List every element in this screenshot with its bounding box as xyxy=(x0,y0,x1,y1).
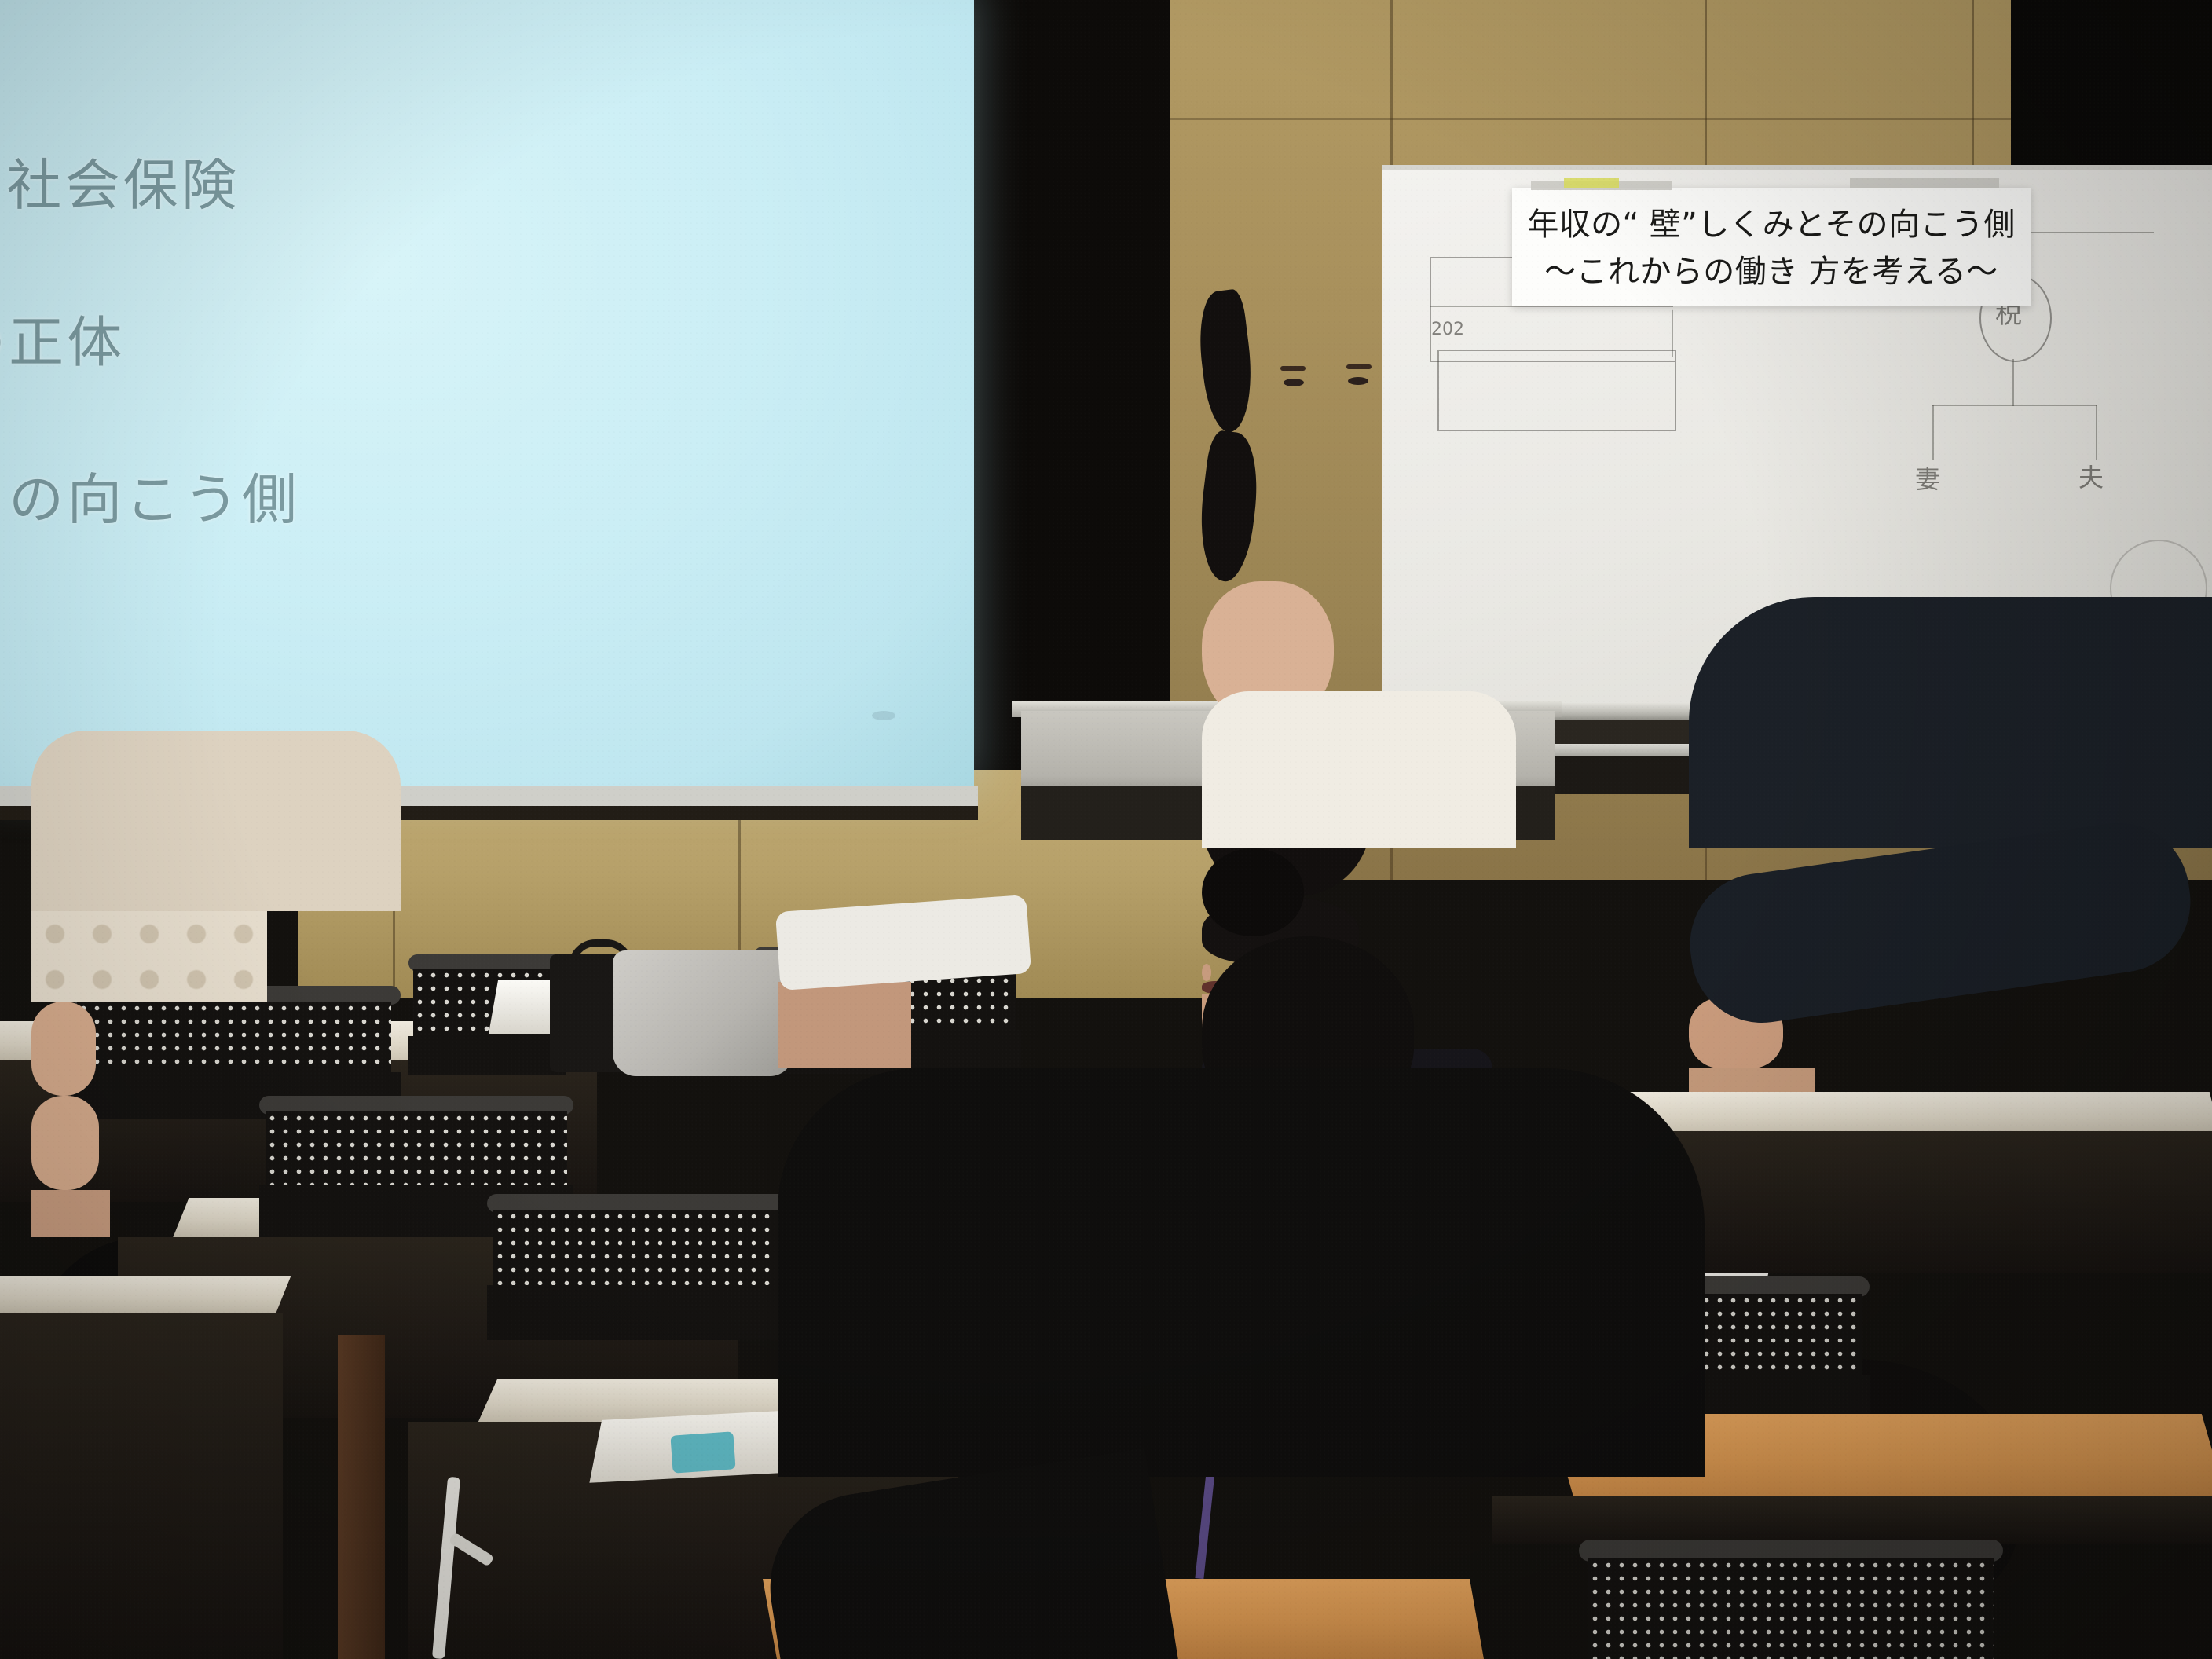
grey-cardigan xyxy=(613,950,793,1076)
desk-row-front-left xyxy=(0,1276,291,1316)
attendee-foreground-suit xyxy=(778,1068,1705,1477)
attendee-right xyxy=(1689,597,2212,1084)
slide-line-1: 方と社会保険 xyxy=(0,141,240,221)
slide-line-2: ” の正体 xyxy=(0,298,126,378)
slide-line-3: 壁” の向こう側 xyxy=(0,456,300,535)
poster-title-line-2: ～これからの働き 方を考える～ xyxy=(1512,246,2031,291)
dark-curtain-right xyxy=(2011,0,2212,181)
attendee-right-shirt xyxy=(1689,597,2212,848)
poster-title-line-1: 年収の“ 壁”しくみとその向こう側 xyxy=(1512,199,2031,244)
seminar-room-photo: 方と社会保険 ” の正体 壁” の向こう側 ） 202 税 妻 夫 年 xyxy=(0,0,2212,1659)
projection-screen: 方と社会保険 ” の正体 壁” の向こう側 ） xyxy=(0,0,974,786)
presenter xyxy=(1202,291,1532,731)
attendee-left-blouse xyxy=(31,731,401,911)
sketch-node-wife: 妻 xyxy=(1915,460,1940,496)
teal-phone[interactable] xyxy=(670,1431,735,1473)
screen-hotspot xyxy=(872,711,895,720)
attendee-foreground xyxy=(778,903,1642,1659)
sketch-node-husband: 夫 xyxy=(2078,458,2104,494)
whiteboard-poster: 年収の“ 壁”しくみとその向こう側 ～これからの働き 方を考える～ xyxy=(1512,188,2031,306)
attendee-center-top xyxy=(1202,691,1516,848)
shirt-collar xyxy=(775,895,1031,991)
attendee-left xyxy=(31,731,471,1108)
